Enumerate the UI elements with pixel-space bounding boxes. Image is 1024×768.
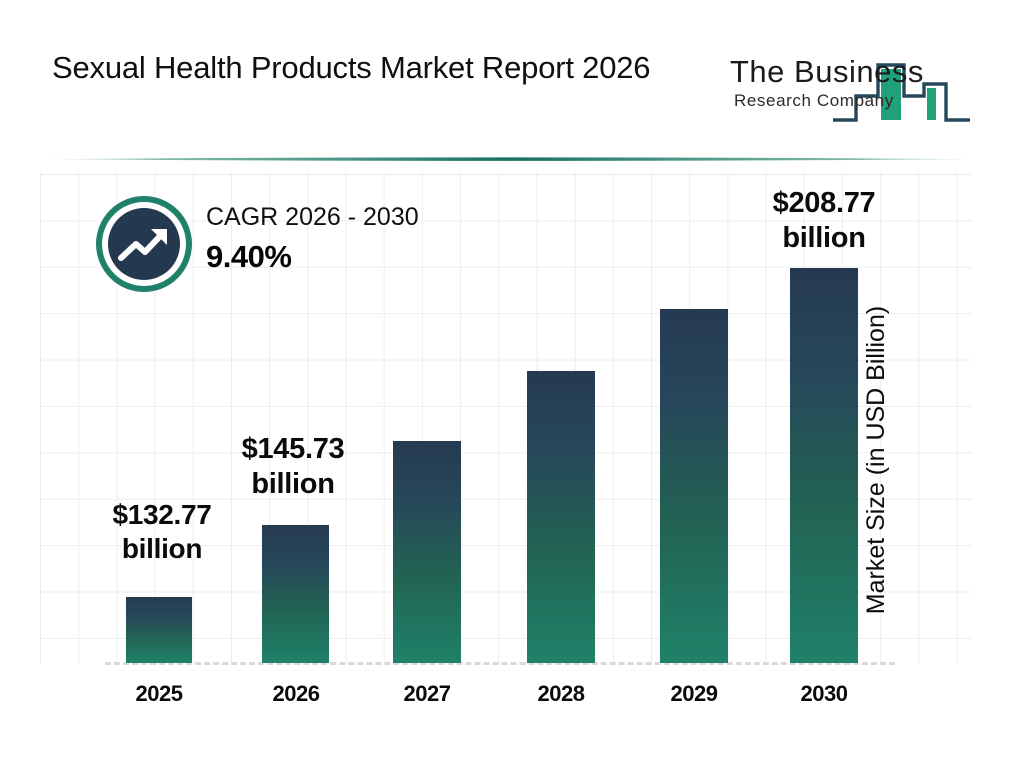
bar-2029[interactable] bbox=[660, 309, 728, 663]
bar-2027[interactable] bbox=[393, 441, 461, 663]
cagr-text-block: CAGR 2026 - 2030 9.40% bbox=[206, 202, 506, 278]
chart-page: Sexual Health Products Market Report 202… bbox=[0, 0, 1024, 768]
value-label-2025-unit: billion bbox=[72, 532, 252, 566]
x-tick-2025: 2025 bbox=[99, 681, 219, 707]
value-label-2026-amount: $145.73 bbox=[203, 432, 383, 467]
value-label-2026: $145.73 billion bbox=[203, 432, 383, 503]
x-tick-2027: 2027 bbox=[367, 681, 487, 707]
bar-2026[interactable] bbox=[262, 525, 329, 663]
trending-up-icon bbox=[96, 196, 192, 292]
cagr-period-label: CAGR 2026 - 2030 bbox=[206, 202, 506, 233]
value-label-2025: $132.77 billion bbox=[72, 498, 252, 566]
cagr-badge: CAGR 2026 - 2030 9.40% bbox=[96, 196, 516, 296]
bar-2028[interactable] bbox=[527, 371, 595, 663]
y-axis-title: Market Size (in USD Billion) bbox=[862, 260, 898, 660]
value-label-2025-amount: $132.77 bbox=[72, 498, 252, 532]
value-label-2030: $208.77 billion bbox=[734, 186, 914, 257]
value-label-2026-unit: billion bbox=[203, 467, 383, 502]
x-tick-2030: 2030 bbox=[764, 681, 884, 707]
value-label-2030-amount: $208.77 bbox=[734, 186, 914, 221]
cagr-value: 9.40% bbox=[206, 237, 506, 277]
x-tick-2029: 2029 bbox=[634, 681, 754, 707]
value-label-2030-unit: billion bbox=[734, 221, 914, 256]
x-tick-2028: 2028 bbox=[501, 681, 621, 707]
bar-2025[interactable] bbox=[126, 597, 192, 663]
bar-2030[interactable] bbox=[790, 268, 858, 663]
x-tick-2026: 2026 bbox=[236, 681, 356, 707]
